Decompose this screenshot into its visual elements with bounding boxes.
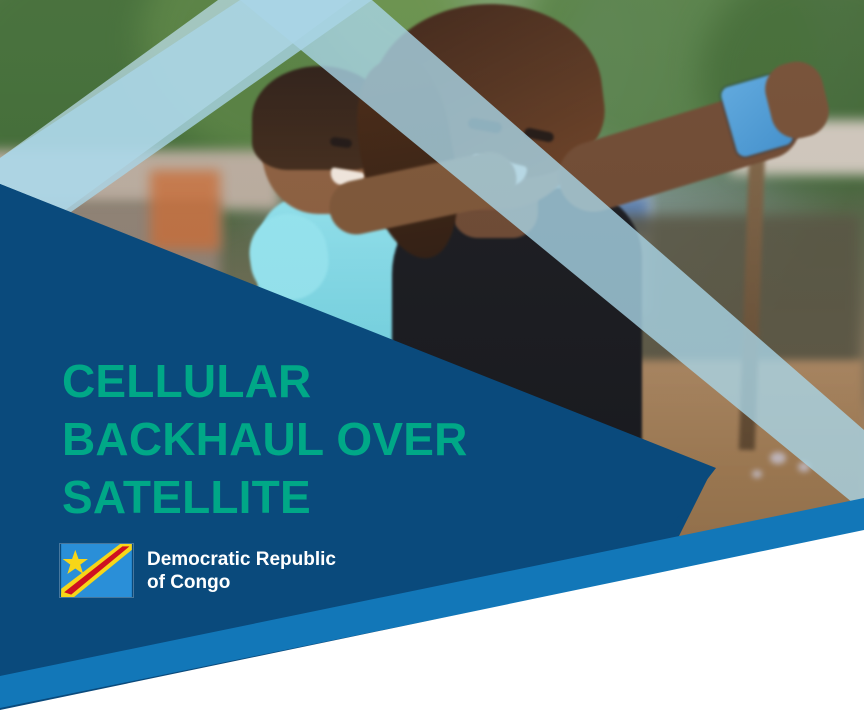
country-identity: Democratic Republic of Congo — [60, 544, 336, 597]
page-title: CELLULARBACKHAUL OVERSATELLITE — [62, 352, 532, 526]
country-name-label: Democratic Republic of Congo — [147, 548, 336, 594]
flag-democratic-republic-of-congo-icon — [60, 544, 133, 597]
title-line-1: CELLULAR — [62, 355, 311, 407]
title-line-3: SATELLITE — [62, 471, 311, 523]
slide-canvas: CELLULARBACKHAUL OVERSATELLITE Democrati… — [0, 0, 864, 722]
title-line-2: BACKHAUL OVER — [62, 413, 468, 465]
title-block: CELLULARBACKHAUL OVERSATELLITE — [62, 352, 532, 526]
